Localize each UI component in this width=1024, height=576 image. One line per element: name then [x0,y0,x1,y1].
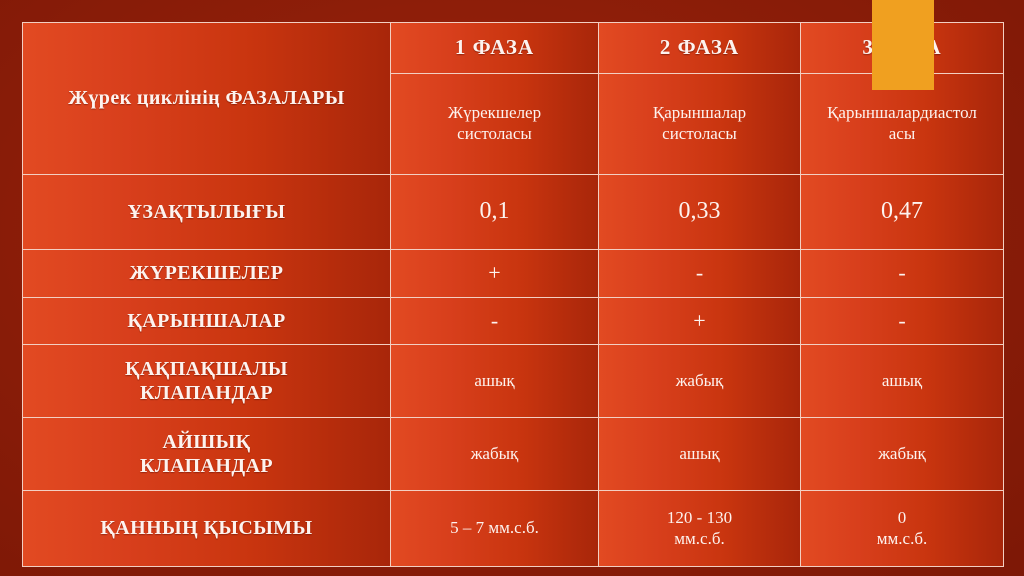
cell-duration-phase-1: 0,1 [391,175,599,250]
cardiac-cycle-phases-table: Жүрек циклінің ФАЗАЛАРЫ 1 ФАЗА 2 ФАЗА 3 … [22,22,1004,567]
cell-duration-phase-3: 0,47 [801,175,1004,250]
cell-ventricles-phase-1: - [391,298,599,345]
table-row-cuspid-valves: ҚАҚПАҚШАЛЫ КЛАПАНДАР ашық жабық ашық [23,345,1004,418]
cell-blood-pressure-phase-3-line1: 0 [811,508,993,529]
row-label-semilunar-valves: АЙШЫҚ КЛАПАНДАР [23,418,391,491]
column-subheader-phase-3-line2: асы [811,124,993,145]
column-subheader-phase-2: Қарыншалар систоласы [599,74,801,175]
table-row-ventricles: ҚАРЫНШАЛАР - + - [23,298,1004,345]
cell-semilunar-valves-phase-2: ашық [599,418,801,491]
cell-blood-pressure-phase-3-line2: мм.с.б. [811,529,993,550]
table-header-row-phases: Жүрек циклінің ФАЗАЛАРЫ 1 ФАЗА 2 ФАЗА 3 … [23,23,1004,74]
cell-blood-pressure-phase-2: 120 - 130 мм.с.б. [599,491,801,567]
column-subheader-phase-1: Жүрекшелер систоласы [391,74,599,175]
cell-atria-phase-3: - [801,250,1004,298]
column-subheader-phase-1-line2: систоласы [401,124,588,145]
row-label-cuspid-valves-line1: ҚАҚПАҚШАЛЫ [33,357,380,381]
table-row-blood-pressure: ҚАННЫҢ ҚЫСЫМЫ 5 – 7 мм.с.б. 120 - 130 мм… [23,491,1004,567]
column-subheader-phase-2-line2: систоласы [609,124,790,145]
column-header-phase-2: 2 ФАЗА [599,23,801,74]
column-subheader-phase-2-line1: Қарыншалар [609,103,790,124]
cell-atria-phase-1: + [391,250,599,298]
row-label-cuspid-valves: ҚАҚПАҚШАЛЫ КЛАПАНДАР [23,345,391,418]
cell-cuspid-valves-phase-3: ашық [801,345,1004,418]
row-label-ventricles: ҚАРЫНШАЛАР [23,298,391,345]
orange-highlight-band [872,0,934,90]
cell-semilunar-valves-phase-3: жабық [801,418,1004,491]
column-subheader-phase-1-line1: Жүрекшелер [401,103,588,124]
table-row-semilunar-valves: АЙШЫҚ КЛАПАНДАР жабық ашық жабық [23,418,1004,491]
row-label-semilunar-valves-line1: АЙШЫҚ [33,430,380,454]
row-label-semilunar-valves-line2: КЛАПАНДАР [33,454,380,478]
slide-canvas: Жүрек циклінің ФАЗАЛАРЫ 1 ФАЗА 2 ФАЗА 3 … [0,0,1024,576]
table-row-atria: ЖҮРЕКШЕЛЕР + - - [23,250,1004,298]
cell-ventricles-phase-3: - [801,298,1004,345]
cell-atria-phase-2: - [599,250,801,298]
row-label-cuspid-valves-line2: КЛАПАНДАР [33,381,380,405]
table-corner-title: Жүрек циклінің ФАЗАЛАРЫ [23,23,391,175]
cell-blood-pressure-phase-2-line1: 120 - 130 [609,508,790,529]
cell-semilunar-valves-phase-1: жабық [391,418,599,491]
cell-cuspid-valves-phase-2: жабық [599,345,801,418]
cell-blood-pressure-phase-2-line2: мм.с.б. [609,529,790,550]
row-label-atria: ЖҮРЕКШЕЛЕР [23,250,391,298]
cell-blood-pressure-phase-3: 0 мм.с.б. [801,491,1004,567]
cell-blood-pressure-phase-1: 5 – 7 мм.с.б. [391,491,599,567]
cell-cuspid-valves-phase-1: ашық [391,345,599,418]
column-subheader-phase-3-line1: Қарыншалардиастол [811,103,993,124]
cell-duration-phase-2: 0,33 [599,175,801,250]
cell-blood-pressure-phase-1-line1: 5 – 7 мм.с.б. [401,518,588,539]
table-row-duration: ҰЗАҚТЫЛЫҒЫ 0,1 0,33 0,47 [23,175,1004,250]
column-header-phase-1: 1 ФАЗА [391,23,599,74]
row-label-duration: ҰЗАҚТЫЛЫҒЫ [23,175,391,250]
row-label-blood-pressure: ҚАННЫҢ ҚЫСЫМЫ [23,491,391,567]
cell-ventricles-phase-2: + [599,298,801,345]
